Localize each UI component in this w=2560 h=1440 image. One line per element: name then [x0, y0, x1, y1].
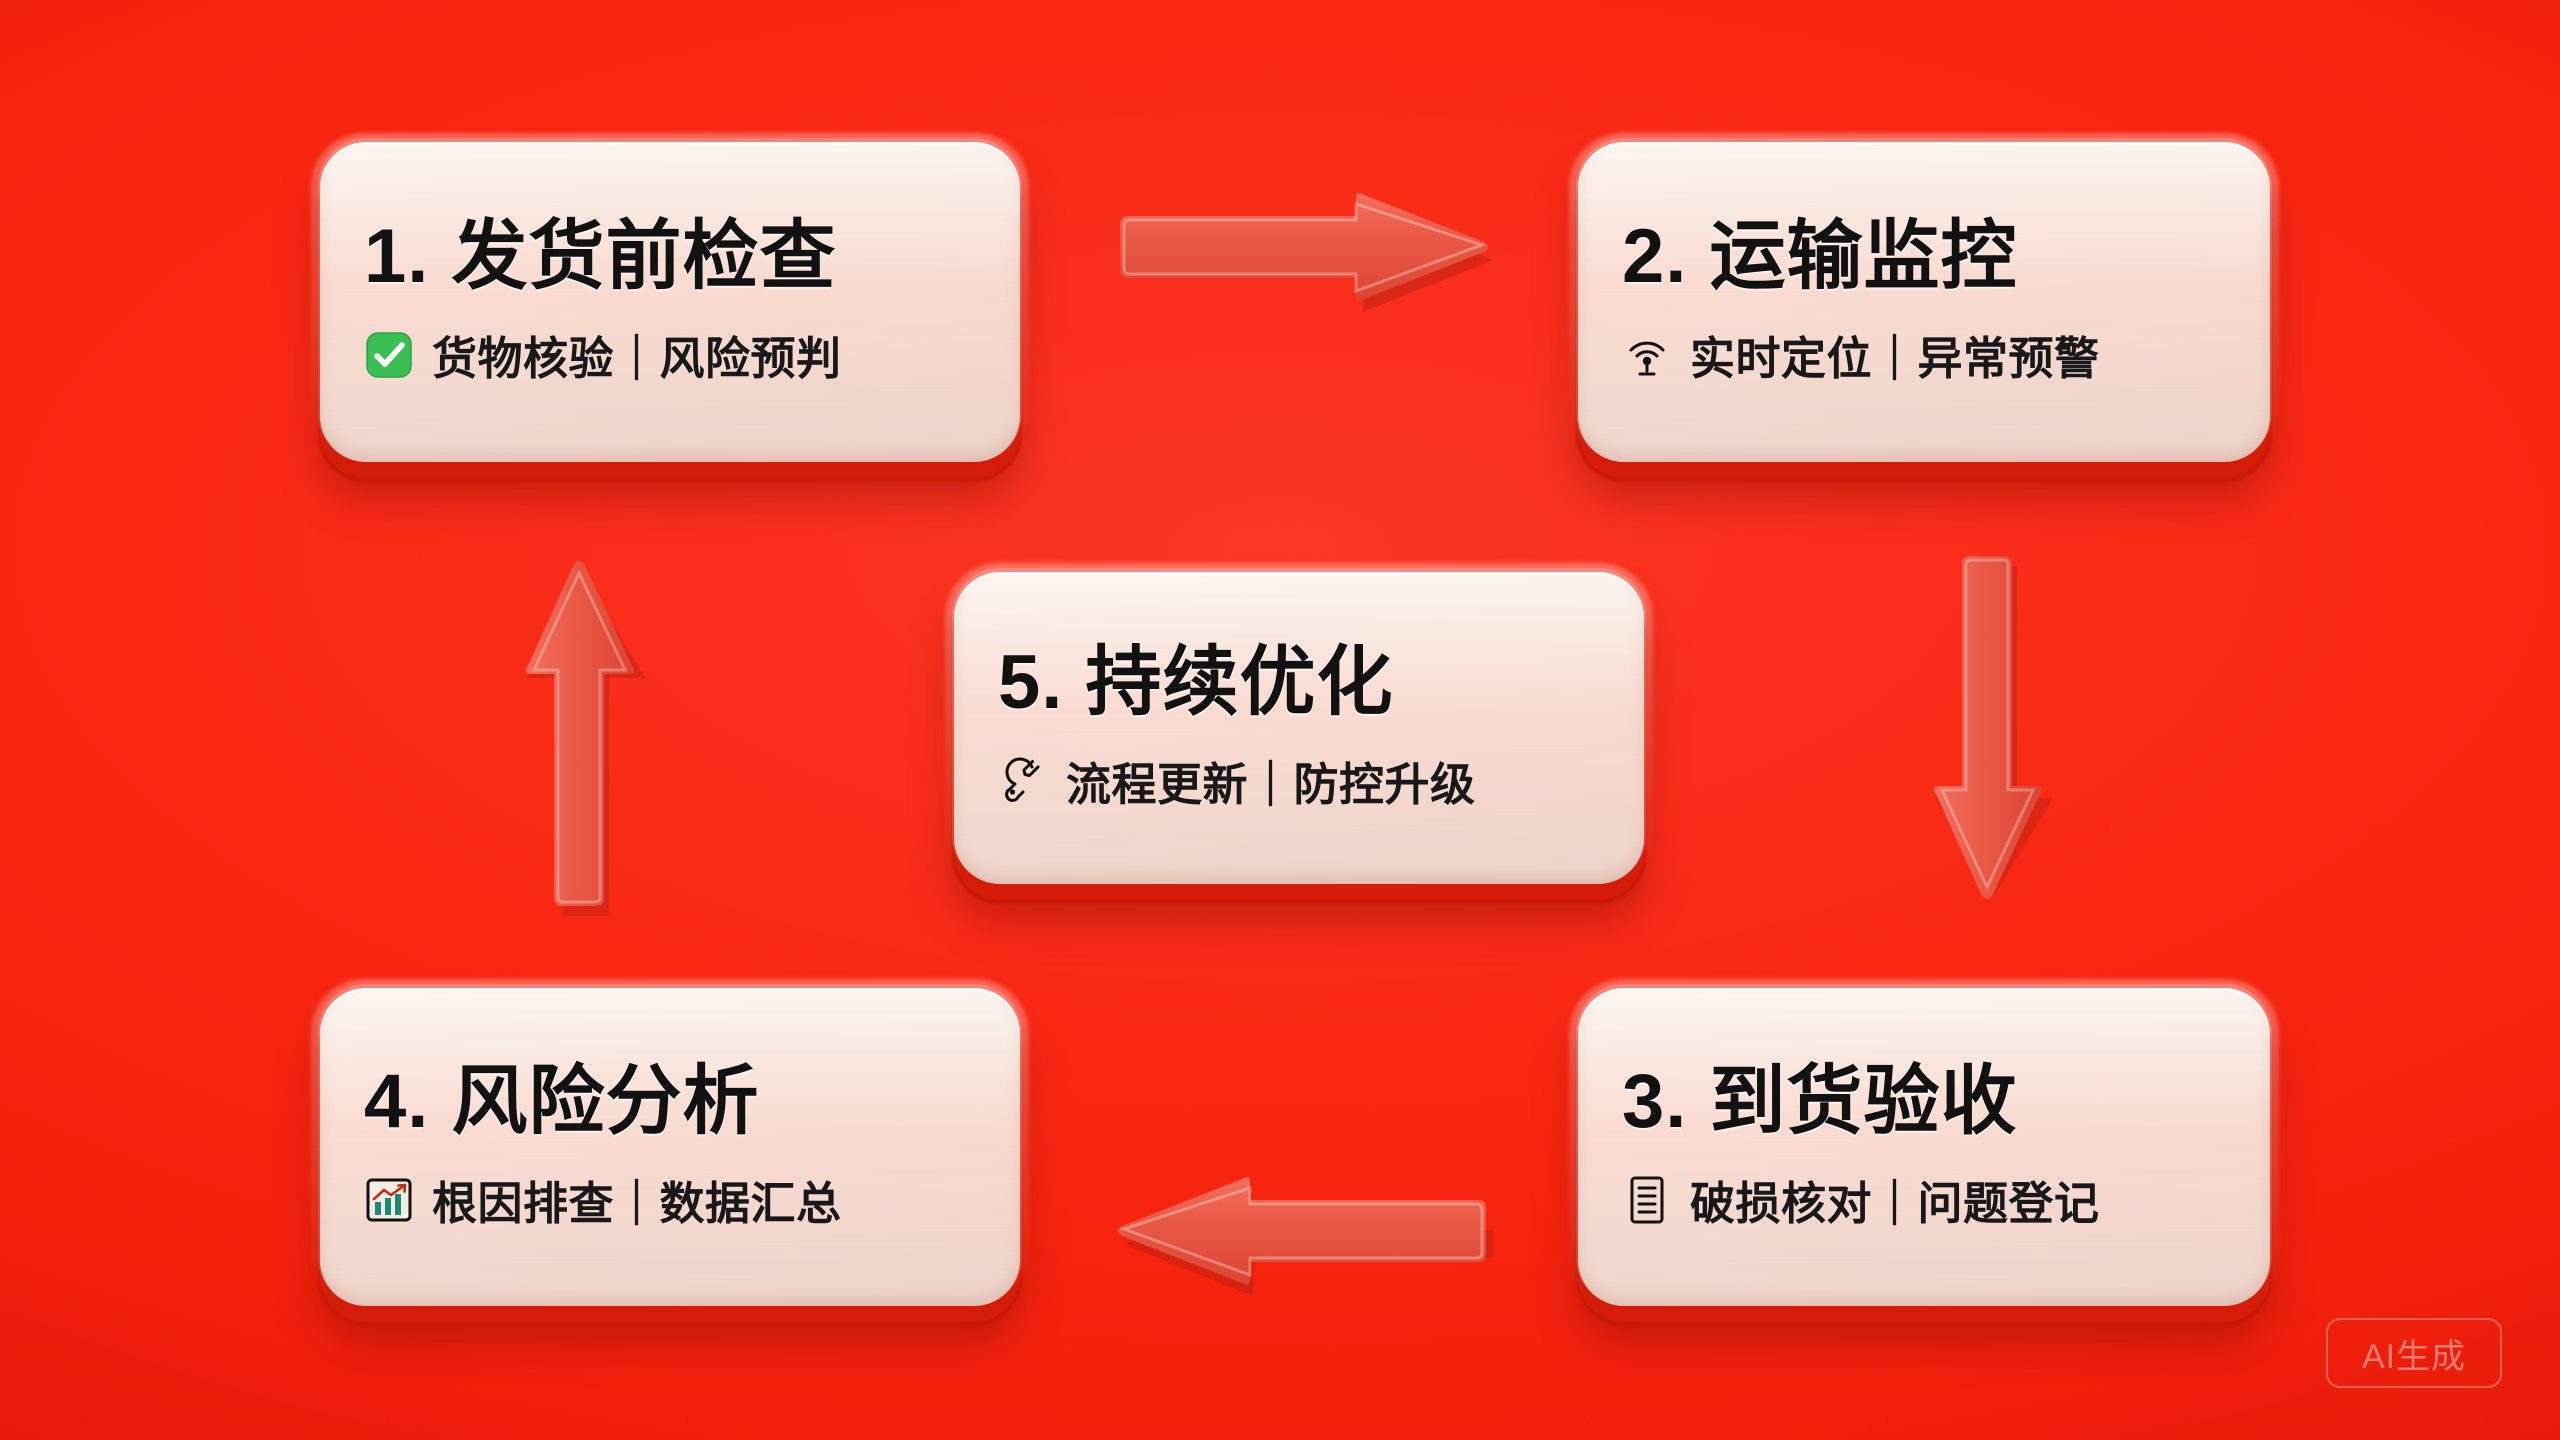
step-title: 3. 到货验收: [1622, 1062, 2226, 1142]
ai-generated-watermark: AI生成: [2326, 1318, 2502, 1388]
step-card-1[interactable]: 1. 发货前检查 货物核验｜风险预判: [320, 142, 1020, 462]
step-subtitle-row: 流程更新｜防控升级: [998, 748, 1600, 813]
satellite-signal-icon: [1622, 330, 1672, 380]
step-subtitle: 根因排查｜数据汇总: [432, 1167, 842, 1232]
diagram-canvas: 1. 发货前检查 货物核验｜风险预判 2. 运输监控: [0, 0, 2560, 1440]
step-subtitle-row: 货物核验｜风险预判: [364, 322, 976, 387]
bar-chart-icon: [364, 1175, 414, 1225]
step-subtitle: 破损核对｜问题登记: [1690, 1167, 2100, 1232]
step-card-3[interactable]: 3. 到货验收 破损核对｜问题登记: [1578, 988, 2270, 1306]
step-subtitle: 货物核验｜风险预判: [432, 322, 842, 387]
step-title: 5. 持续优化: [998, 643, 1600, 723]
arrow-down-icon: [1936, 556, 2046, 906]
step-title: 4. 风险分析: [364, 1062, 976, 1142]
document-list-icon: [1622, 1175, 1672, 1225]
arrow-left-icon: [1118, 1176, 1488, 1288]
step-card-4[interactable]: 4. 风险分析 根因排查｜数据汇总: [320, 988, 1020, 1306]
step-title: 2. 运输监控: [1622, 217, 2226, 297]
step-title: 1. 发货前检查: [364, 217, 976, 297]
wrench-icon: [998, 756, 1048, 806]
step-subtitle: 流程更新｜防控升级: [1066, 748, 1476, 813]
step-card-2[interactable]: 2. 运输监控 实时定位｜异常预警: [1578, 142, 2270, 462]
step-subtitle-row: 实时定位｜异常预警: [1622, 322, 2226, 387]
step-subtitle-row: 破损核对｜问题登记: [1622, 1167, 2226, 1232]
step-subtitle: 实时定位｜异常预警: [1690, 322, 2100, 387]
arrow-right-icon: [1118, 196, 1488, 304]
arrow-up-icon: [528, 556, 638, 906]
check-square-icon: [364, 330, 414, 380]
step-subtitle-row: 根因排查｜数据汇总: [364, 1167, 976, 1232]
watermark-label: AI生成: [2362, 1329, 2466, 1378]
step-card-5[interactable]: 5. 持续优化 流程更新｜防控升级: [954, 572, 1644, 884]
